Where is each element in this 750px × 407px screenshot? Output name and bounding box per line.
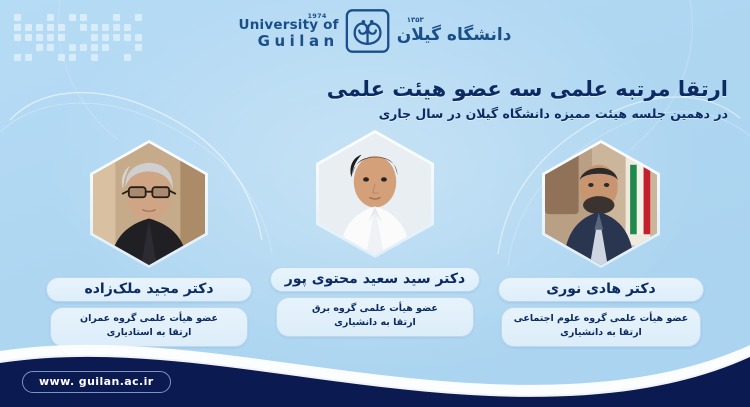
- page-subtitle: در دهمین جلسه هیئت ممیزه دانشگاه گیلان د…: [327, 106, 728, 122]
- person-photo-frame: [90, 140, 208, 268]
- poster-canvas: 1974 University of Guilan ۱۳۵۳ دانشگاه گ…: [0, 0, 750, 407]
- logo-persian-name: دانشگاه گیلان: [397, 26, 512, 45]
- logo-english-text: 1974 University of Guilan: [239, 13, 339, 50]
- portrait-majid-malekzadeh: [93, 143, 205, 265]
- university-logo: 1974 University of Guilan ۱۳۵۳ دانشگاه گ…: [239, 8, 512, 54]
- logo-persian-year: ۱۳۵۳: [407, 17, 512, 25]
- person-department: عضو هیأت علمی گروه علوم اجتماعی: [514, 312, 689, 326]
- person-photo-frame: [542, 140, 660, 268]
- footer-wave: www. guilan.ac.ir: [0, 335, 750, 407]
- person-card: دکتر مجید ملک‌زاده عضو هیأت علمی گروه عم…: [45, 140, 253, 347]
- person-promotion: ارتقا به دانشیاری: [289, 316, 461, 330]
- person-name: دکتر مجید ملک‌زاده: [46, 277, 252, 302]
- page-title: ارتقا مرتبه علمی سه عضو هیئت علمی: [327, 76, 728, 102]
- dot-pattern-decoration: [14, 14, 144, 59]
- person-name: دکتر سید سعید محتوی پور: [270, 267, 480, 292]
- person-description: عضو هیأت علمی گروه برق ارتقا به دانشیاری: [276, 297, 474, 337]
- portrait-seyed-saeed-mohtavipour: [319, 133, 431, 255]
- logo-english-line2: Guilan: [239, 34, 339, 50]
- portrait-hadi-nouri: [545, 143, 657, 265]
- people-cards: دکتر هادی نوری عضو هیأت علمی گروه علوم ا…: [0, 140, 750, 355]
- guilan-university-emblem-icon: [345, 8, 391, 54]
- title-block: ارتقا مرتبه علمی سه عضو هیئت علمی در دهم…: [327, 76, 728, 123]
- person-card: دکتر سید سعید محتوی پور عضو هیأت علمی گر…: [271, 140, 479, 337]
- logo-english-line1: University of: [239, 18, 339, 32]
- person-department: عضو هیأت علمی گروه برق: [289, 302, 461, 316]
- person-department: عضو هیأت علمی گروه عمران: [63, 312, 235, 326]
- person-name: دکتر هادی نوری: [498, 277, 704, 302]
- person-card: دکتر هادی نوری عضو هیأت علمی گروه علوم ا…: [497, 140, 705, 347]
- website-url[interactable]: www. guilan.ac.ir: [22, 371, 171, 393]
- logo-persian-text: ۱۳۵۳ دانشگاه گیلان: [397, 17, 512, 44]
- person-photo-frame: [316, 130, 434, 258]
